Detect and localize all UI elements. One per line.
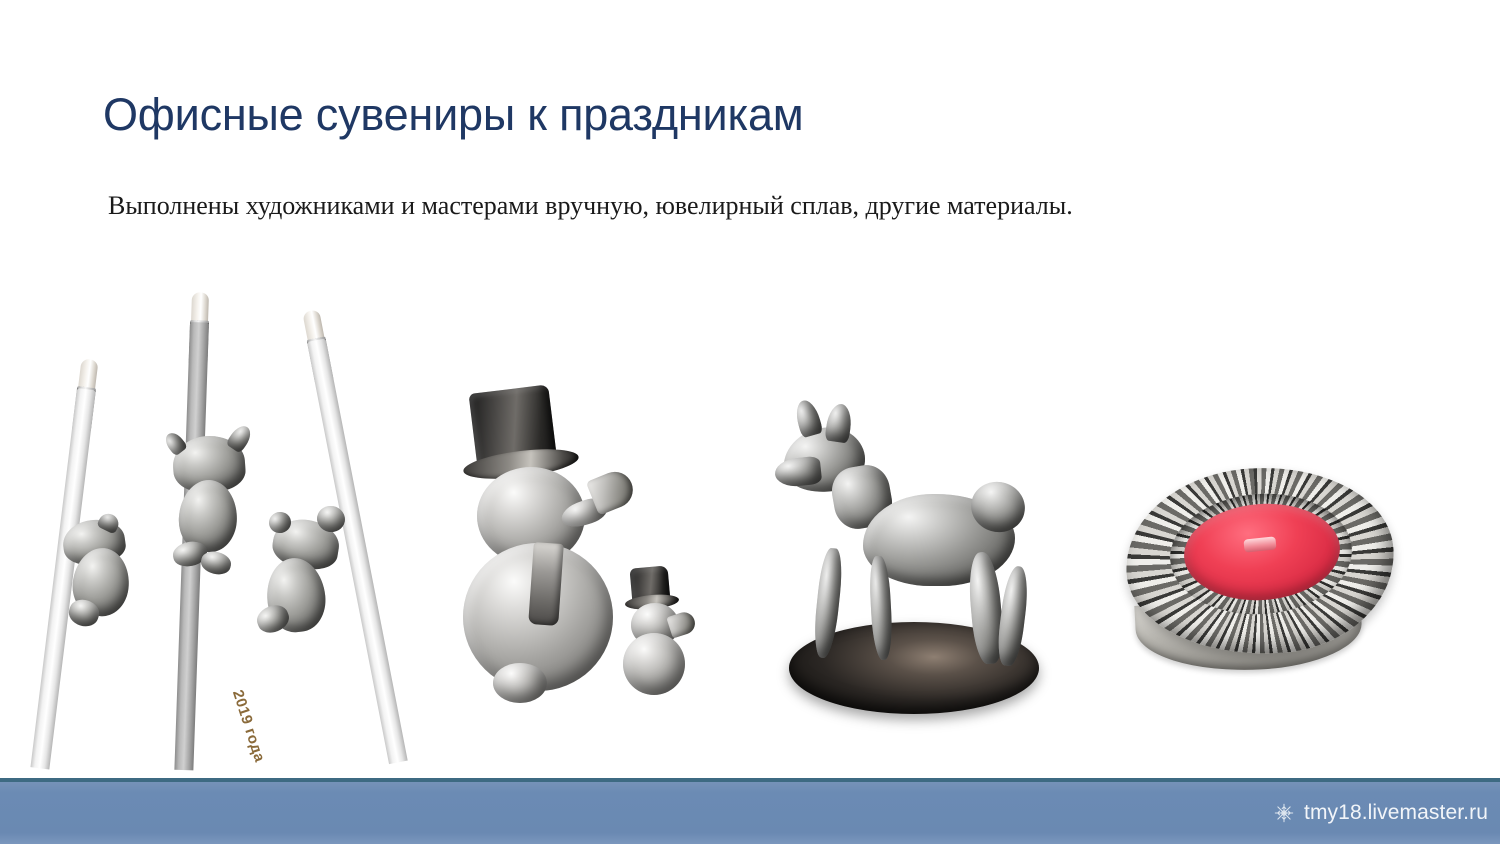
snowman-foot (493, 663, 547, 703)
snowman-scarf-icon (528, 542, 564, 626)
watermark-text: tmy18.livemaster.ru (1304, 801, 1488, 825)
footer-bar: tmy18.livemaster.ru (0, 778, 1500, 844)
dog-ear-icon (792, 398, 823, 439)
product-image-heart-candle-holder (1110, 460, 1430, 700)
small-snowman-body (623, 633, 685, 695)
product-image-pencils-with-animal-figurines: 2019 года (55, 290, 405, 770)
pencil-engraved-text: 2019 года (229, 688, 268, 765)
snowflake-icon (1273, 802, 1295, 824)
watermark: tmy18.livemaster.ru (1273, 801, 1488, 825)
page-title: Офисные сувениры к праздникам (103, 88, 804, 142)
product-image-dog-figurine (775, 390, 1065, 730)
pencil-group: 2019 года (55, 290, 405, 770)
slide-subtitle: Выполнены художниками и мастерами вручну… (108, 189, 1073, 223)
product-gallery: 2019 года (0, 270, 1500, 770)
product-image-snowman-figurines (455, 385, 705, 715)
presentation-slide: Офисные сувениры к праздникам Выполнены … (0, 0, 1500, 844)
figurine-bull-limb (199, 549, 233, 578)
dog-muzzle-icon (774, 456, 823, 489)
